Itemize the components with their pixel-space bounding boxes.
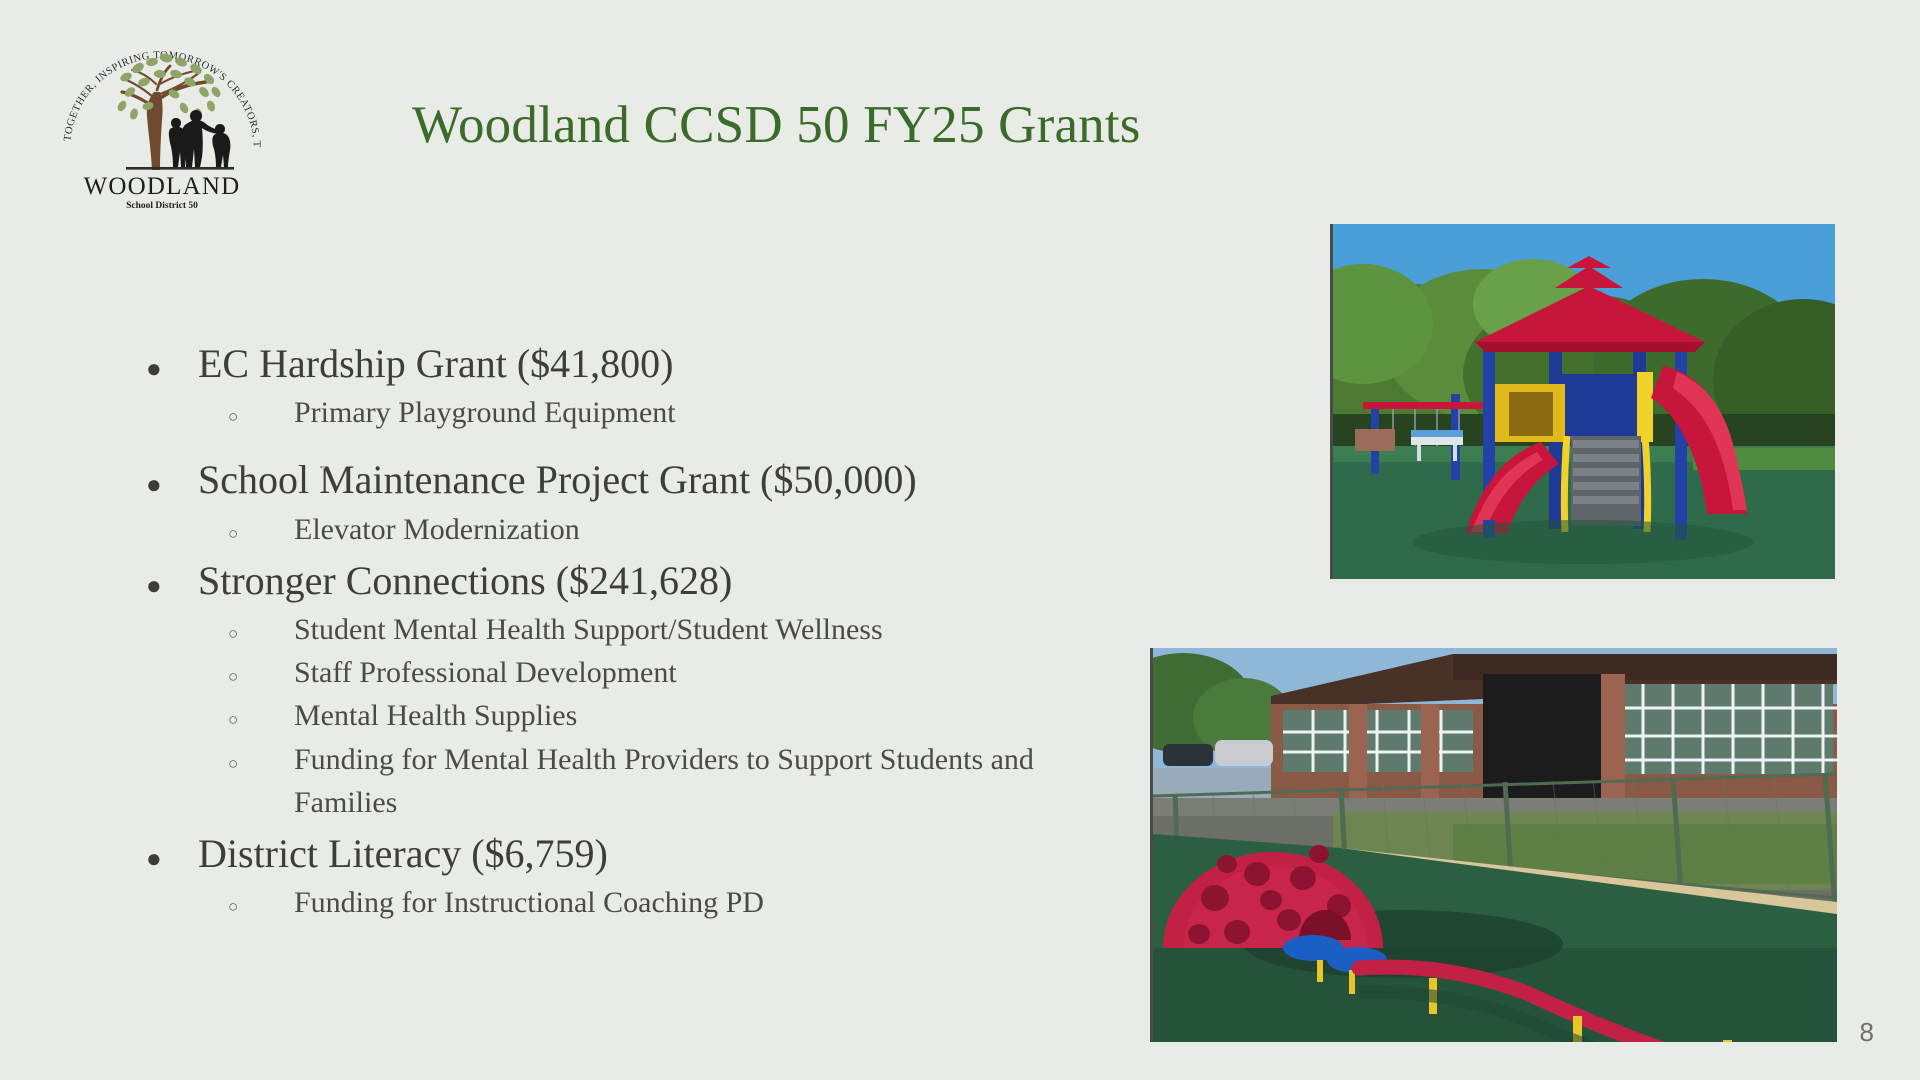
bullet-circle-icon: ○ (132, 668, 294, 685)
sub-bullet-label: Elevator Modernization (294, 508, 580, 551)
sub-bullet-list: ○ Elevator Modernization (132, 508, 1142, 551)
bullet-disc-icon: ● (132, 573, 198, 599)
sub-bullet-row: ○ Student Mental Health Support/Student … (132, 608, 1142, 651)
sub-bullet-row: ○ Funding for Mental Health Providers to… (132, 738, 1142, 824)
sub-bullet-list: ○ Primary Playground Equipment (132, 391, 1142, 434)
page-title: Woodland CCSD 50 FY25 Grants (412, 96, 1141, 154)
sub-bullet-label: Student Mental Health Support/Student We… (294, 608, 883, 651)
bullet-group-school-maintenance-project-grant: ● School Maintenance Project Grant ($50,… (132, 452, 1142, 550)
logo-subtitle: School District 50 (126, 201, 198, 211)
sub-bullet-row: ○ Funding for Instructional Coaching PD (132, 881, 1142, 924)
sub-bullet-label: Mental Health Supplies (294, 694, 577, 737)
bullet-label: School Maintenance Project Grant ($50,00… (198, 452, 917, 507)
children-silhouette-icon (169, 110, 231, 167)
bullet-disc-icon: ● (132, 472, 198, 498)
bullet-row: ● EC Hardship Grant ($41,800) (132, 336, 1142, 391)
bullet-label: Stronger Connections ($241,628) (198, 553, 732, 608)
sub-bullet-row: ○ Elevator Modernization (132, 508, 1142, 551)
playground-dome-photo (1150, 648, 1837, 1042)
playground-structure-photo (1330, 224, 1835, 579)
bullet-group-district-literacy: ● District Literacy ($6,759) ○ Funding f… (132, 826, 1142, 924)
page-number: 8 (1860, 1017, 1874, 1048)
bullet-row: ● District Literacy ($6,759) (132, 826, 1142, 881)
bullet-row: ● Stronger Connections ($241,628) (132, 553, 1142, 608)
sub-bullet-list: ○ Student Mental Health Support/Student … (132, 608, 1142, 824)
bullet-label: District Literacy ($6,759) (198, 826, 608, 881)
sub-bullet-row: ○ Staff Professional Development (132, 651, 1142, 694)
logo-wordmark: WOODLAND (84, 173, 241, 200)
bullet-circle-icon: ○ (132, 525, 294, 542)
bullet-row: ● School Maintenance Project Grant ($50,… (132, 452, 1142, 507)
sub-bullet-label: Staff Professional Development (294, 651, 677, 694)
woodland-district-logo: TOGETHER, INSPIRING TOMORROW'S CREATORS,… (48, 22, 276, 212)
spacer (132, 434, 1142, 450)
slide: TOGETHER, INSPIRING TOMORROW'S CREATORS,… (0, 0, 1920, 1080)
sub-bullet-label: Primary Playground Equipment (294, 391, 676, 434)
bullet-circle-icon: ○ (132, 625, 294, 642)
sub-bullet-label: Funding for Mental Health Providers to S… (294, 738, 1084, 824)
bullet-group-stronger-connections: ● Stronger Connections ($241,628) ○ Stud… (132, 553, 1142, 824)
bullet-circle-icon: ○ (132, 408, 294, 425)
bullet-label: EC Hardship Grant ($41,800) (198, 336, 673, 391)
sub-bullet-list: ○ Funding for Instructional Coaching PD (132, 881, 1142, 924)
sub-bullet-label: Funding for Instructional Coaching PD (294, 881, 764, 924)
ground-line (126, 167, 234, 170)
bullet-disc-icon: ● (132, 846, 198, 872)
grants-bullet-list: ● EC Hardship Grant ($41,800) ○ Primary … (132, 336, 1142, 926)
sub-bullet-row: ○ Primary Playground Equipment (132, 391, 1142, 434)
sub-bullet-row: ○ Mental Health Supplies (132, 694, 1142, 737)
bullet-disc-icon: ● (132, 356, 198, 382)
stray-period-artifact (322, 466, 325, 469)
bullet-circle-icon: ○ (132, 711, 294, 728)
bullet-circle-icon: ○ (132, 755, 294, 772)
bullet-group-ec-hardship-grant: ● EC Hardship Grant ($41,800) ○ Primary … (132, 336, 1142, 450)
bullet-circle-icon: ○ (132, 898, 294, 915)
